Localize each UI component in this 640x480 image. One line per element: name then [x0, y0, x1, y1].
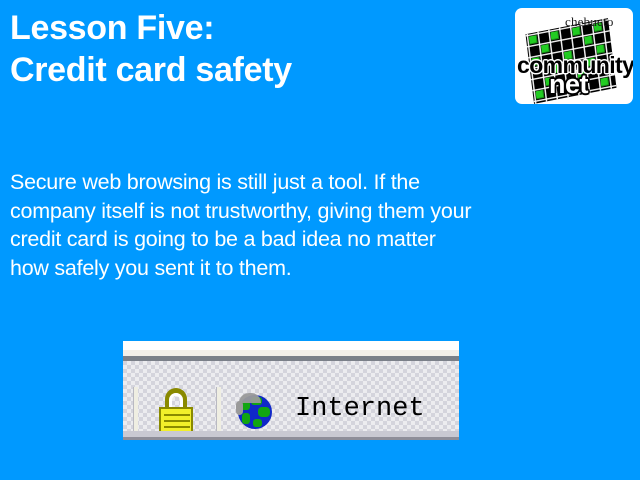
- status-bar-top-white: [123, 341, 459, 350]
- chebucto-community-net-logo: chebucto community net: [515, 8, 633, 104]
- status-bar-panel: Internet: [123, 361, 459, 431]
- logo-green-cell: [600, 77, 609, 86]
- title-line-1: Lesson Five:: [10, 7, 510, 49]
- slide-canvas: Lesson Five: Credit card safety: [0, 0, 640, 480]
- logo-green-cell: [529, 35, 538, 44]
- security-zone-label: Internet: [295, 394, 425, 424]
- padlock-stripe: [164, 426, 190, 428]
- globe-landmass: [242, 413, 250, 424]
- page-title: Lesson Five: Credit card safety: [10, 7, 510, 91]
- body-text: Secure web browsing is still just a tool…: [10, 168, 630, 282]
- globe-landmass: [253, 419, 262, 427]
- padlock-body: [159, 407, 193, 434]
- logo-green-cell: [584, 36, 593, 45]
- body-line-4: how safely you sent it to them.: [10, 254, 630, 283]
- padlock-icon[interactable]: [158, 388, 194, 434]
- padlock-stripe: [164, 414, 190, 416]
- logo-green-cell: [550, 31, 559, 40]
- logo-green-cell: [536, 90, 545, 99]
- body-line-1: Secure web browsing is still just a tool…: [10, 168, 630, 197]
- body-line-2: company itself is not trustworthy, givin…: [10, 197, 630, 226]
- browser-status-bar-image: Internet: [123, 341, 459, 440]
- padlock-stripe: [164, 420, 190, 422]
- logo-artwork: chebucto community net: [515, 8, 633, 104]
- status-bar-bottom-edge: [123, 437, 459, 440]
- logo-text-net: net: [549, 71, 588, 98]
- body-line-3: credit card is going to be a bad idea no…: [10, 225, 630, 254]
- globe-highlight-edge: [236, 401, 243, 415]
- title-line-2: Credit card safety: [10, 49, 510, 91]
- globe-icon[interactable]: [236, 392, 274, 430]
- logo-text-chebucto: chebucto: [565, 14, 614, 30]
- globe-landmass: [258, 407, 270, 417]
